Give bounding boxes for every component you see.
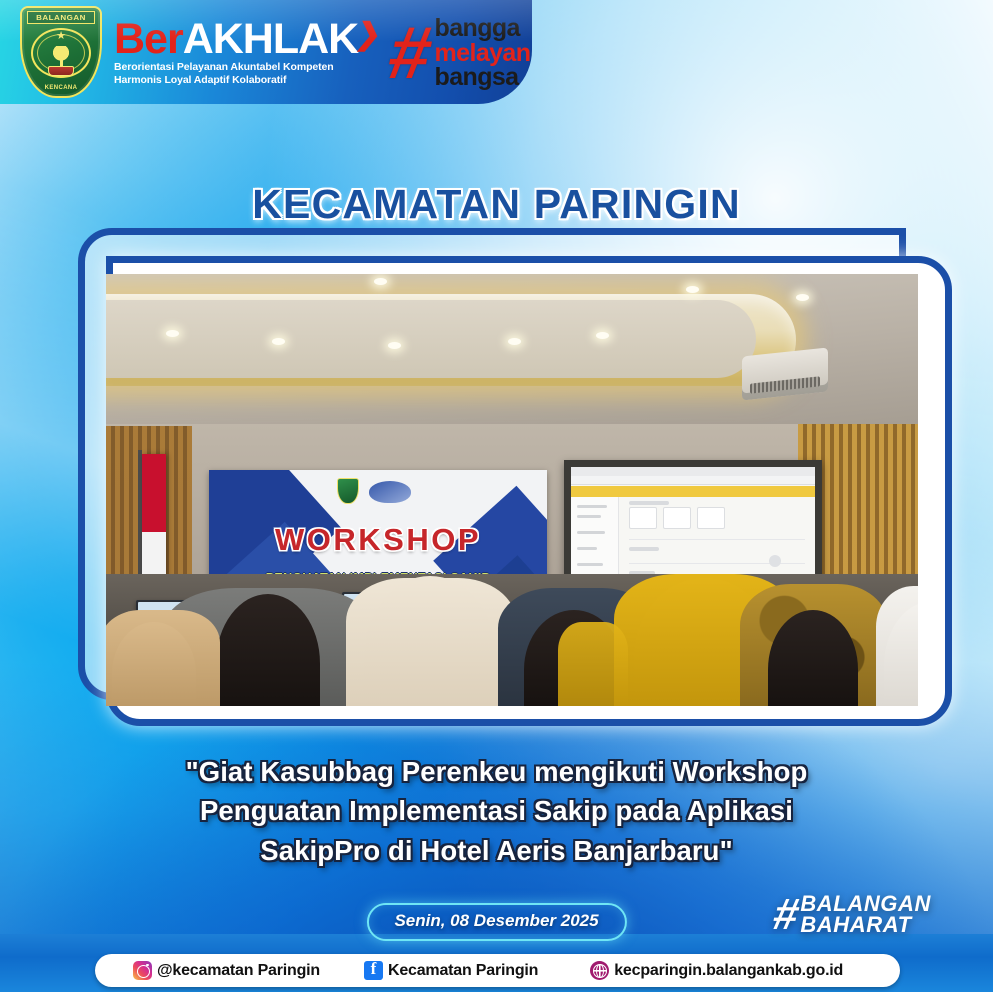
caption-text: "Giat Kasubbag Perenkeu mengikuti Worksh… <box>0 752 993 870</box>
bangga-line3: bangsa <box>435 65 532 90</box>
bangga-line1: bangga <box>435 16 532 41</box>
social-footer: @kecamatan Paringin Kecamatan Paringin k… <box>95 954 900 987</box>
hash-icon: # <box>385 23 437 82</box>
star-icon: ★ <box>56 31 66 42</box>
shield-top-label: BALANGAN <box>36 14 86 21</box>
facebook-icon <box>364 961 383 980</box>
chevron-right-icon: ❯ <box>354 21 383 50</box>
ceiling-cove-inner <box>106 300 756 378</box>
banner-shield-icon <box>337 478 359 504</box>
instagram-icon <box>133 961 152 980</box>
bangga-melayani-bangsa-lockup: # bangga melayani bangsa <box>390 14 532 90</box>
header-banner: BALANGAN ★ KENCANA BerAKHLAK❯ Berorienta… <box>0 0 532 104</box>
website-link[interactable]: kecparingin.balangankab.go.id <box>590 961 843 980</box>
poster-root: BALANGAN ★ KENCANA BerAKHLAK❯ Berorienta… <box>0 0 993 992</box>
air-conditioner <box>742 347 828 400</box>
crown-icon <box>48 66 74 76</box>
kabupaten-balangan-shield-icon: BALANGAN ★ KENCANA <box>20 6 102 98</box>
berakhlak-subtitle-line2: Harmonis Loyal Adaptif Kolaboratif <box>114 74 380 87</box>
website-label: kecparingin.balangankab.go.id <box>614 962 843 980</box>
berakhlak-subtitle-line1: Berorientasi Pelayanan Akuntabel Kompete… <box>114 61 380 74</box>
photo-frame: WORKSHOP PENGUATAN IMPLEMENTASI SAKIP DI… <box>78 228 958 728</box>
hash-icon: # <box>770 897 802 932</box>
caption-line-1: "Giat Kasubbag Perenkeu mengikuti Worksh… <box>0 752 993 791</box>
instagram-label: @kecamatan Paringin <box>157 962 320 980</box>
berakhlak-lockup: BerAKHLAK❯ Berorientasi Pelayanan Akunta… <box>114 17 380 87</box>
instagram-handle[interactable]: @kecamatan Paringin <box>133 961 320 980</box>
watermark-line2: BAHARAT <box>800 915 931 936</box>
berakhlak-suffix: AKHLAK <box>183 15 359 63</box>
date-badge: Senin, 08 Desember 2025 <box>366 903 626 941</box>
berakhlak-prefix: Ber <box>114 15 183 63</box>
event-photo: WORKSHOP PENGUATAN IMPLEMENTASI SAKIP DI… <box>106 274 918 706</box>
shield-bottom-label: KENCANA <box>45 85 78 91</box>
bangga-line2: melayani <box>435 41 532 66</box>
facebook-handle[interactable]: Kecamatan Paringin <box>364 961 538 980</box>
caption-line-3: SakipPro di Hotel Aeris Banjarbaru" <box>0 831 993 870</box>
shield-emblem-icon <box>50 46 72 68</box>
banner-heading: WORKSHOP <box>209 522 547 558</box>
globe-icon <box>590 961 609 980</box>
facebook-label: Kecamatan Paringin <box>388 962 538 980</box>
balangan-baharat-watermark: # BALANGAN BAHARAT <box>774 894 931 935</box>
banner-secondary-logo-icon <box>369 481 411 503</box>
page-title: KECAMATAN PARINGIN <box>0 181 993 228</box>
caption-line-2: Penguatan Implementasi Sakip pada Aplika… <box>0 791 993 830</box>
